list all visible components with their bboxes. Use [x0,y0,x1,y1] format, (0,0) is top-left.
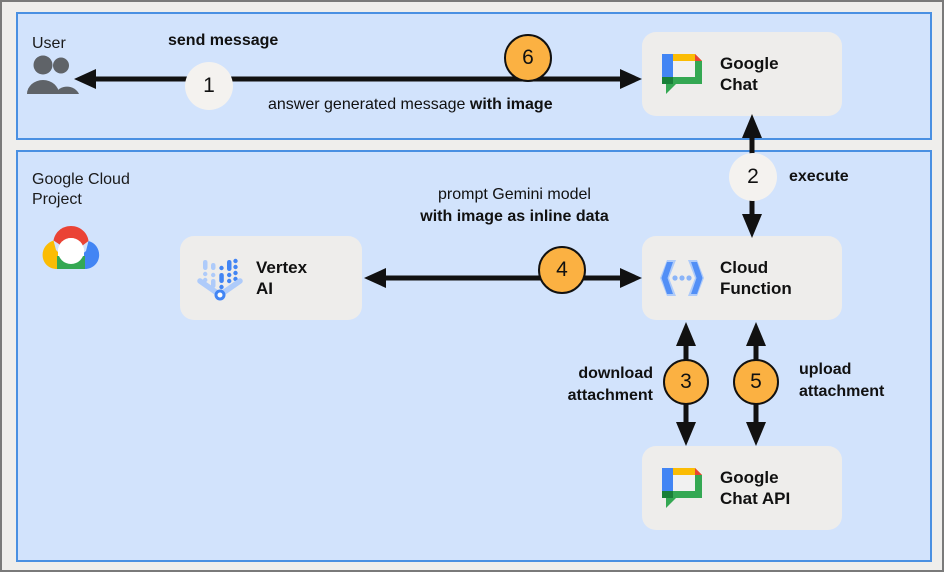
google-cloud-logo [40,224,102,272]
label-prompt-line2: with image as inline data [407,206,622,228]
step-badge-5: 5 [733,359,779,405]
label-upload-attachment: upload attachment [799,359,929,403]
label-send-message: send message [168,30,278,52]
label-answer-plain: answer generated message [268,96,470,113]
card-google-chat-label: Google Chat [720,53,779,95]
card-vertex-ai[interactable]: Vertex AI [180,236,362,320]
step-badge-3: 3 [663,359,709,405]
arrow-vertex-ai-cloud-function [364,258,642,302]
google-chat-icon [656,462,708,514]
label-prompt-gemini-model: prompt Gemini model with image as inline… [407,184,622,228]
card-google-chat[interactable]: Google Chat [642,32,842,116]
step-badge-2: 2 [729,153,777,201]
card-google-chat-api[interactable]: Google Chat API [642,446,842,530]
step-badge-4: 4 [538,246,586,294]
diagram-canvas: User Google Cloud Project [0,0,944,572]
label-answer-bold: with image [470,96,553,113]
step-badge-6: 6 [504,34,552,82]
users-icon [22,54,80,96]
label-prompt-line1: prompt Gemini model [407,184,622,206]
card-vertex-ai-label: Vertex AI [256,257,307,299]
google-chat-icon [656,48,708,100]
card-cloud-function[interactable]: Cloud Function [642,236,842,320]
vertex-ai-icon [194,252,246,304]
cloud-function-icon [656,252,708,304]
step-badge-1: 1 [185,62,233,110]
card-cloud-function-label: Cloud Function [720,257,792,299]
card-google-chat-api-label: Google Chat API [720,467,790,509]
panel-user-title: User [32,34,66,54]
label-answer-generated-message: answer generated message with image [268,94,553,116]
label-download-attachment: download attachment [531,363,653,407]
panel-gcp-title: Google Cloud Project [32,170,130,210]
label-execute: execute [789,166,849,188]
